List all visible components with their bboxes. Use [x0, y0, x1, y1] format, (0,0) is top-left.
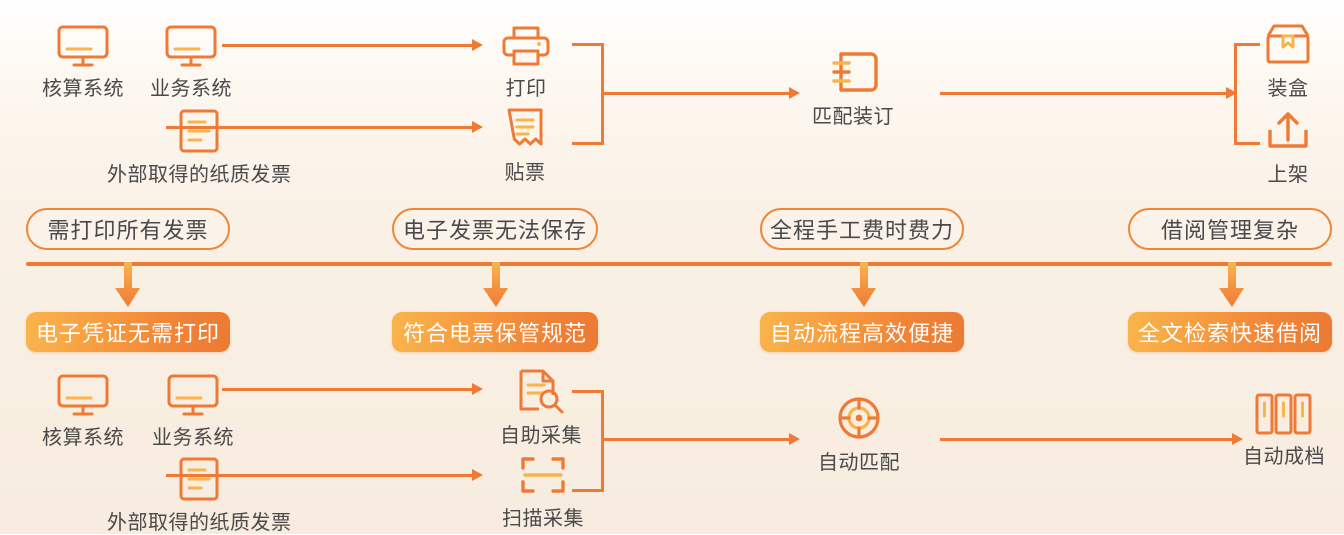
node-print: 打印 — [500, 24, 552, 101]
monitor-icon — [164, 24, 218, 68]
down-arrow-3 — [851, 262, 877, 310]
node-label: 核算系统 — [42, 421, 124, 450]
document-icon — [178, 108, 220, 154]
node-accounting-system-2: 核算系统 — [42, 373, 124, 450]
target-icon — [835, 394, 883, 442]
scan-icon — [519, 454, 567, 498]
connector-systems-to-print — [222, 44, 474, 47]
upload-shelf-icon — [1262, 110, 1314, 154]
node-accounting-system: 核算系统 — [42, 24, 124, 101]
problem-label: 全程手工费时费力 — [770, 213, 954, 245]
monitor-icon — [166, 373, 220, 417]
connector-match-to-outputs — [940, 92, 1228, 95]
connector-automatch-to-archive — [940, 438, 1234, 441]
node-label: 上架 — [1268, 158, 1309, 187]
binder-icon — [823, 50, 883, 96]
connector-systems-to-selfcollect — [222, 388, 474, 391]
connector-invoice-to-scan — [166, 474, 474, 477]
bracket-right-spine — [1234, 43, 1237, 145]
node-label: 外部取得的纸质发票 — [107, 506, 292, 535]
down-arrow-4 — [1219, 262, 1245, 310]
node-label: 核算系统 — [42, 72, 124, 101]
bracket-top-arm — [572, 43, 604, 46]
solution-badge-4: 全文检索快速借阅 — [1128, 312, 1332, 352]
connector-bracket2-to-automatch — [601, 438, 791, 441]
arrowhead-icon — [789, 87, 800, 99]
problem-label: 借阅管理复杂 — [1161, 213, 1299, 245]
connector-invoice-to-paste — [166, 126, 474, 129]
node-business-system: 业务系统 — [150, 24, 232, 101]
arrowhead-icon — [472, 469, 483, 481]
node-scan-collect: 扫描采集 — [502, 454, 584, 531]
arrowhead-icon — [789, 433, 800, 445]
node-box: 装盒 — [1262, 22, 1314, 101]
node-business-system-2: 业务系统 — [152, 373, 234, 450]
solution-badge-3: 自动流程高效便捷 — [760, 312, 964, 352]
node-paste: 贴票 — [502, 106, 548, 185]
solution-label: 电子凭证无需打印 — [36, 316, 220, 348]
section-divider — [26, 262, 1332, 266]
down-arrow-2 — [483, 262, 509, 310]
problem-label: 需打印所有发票 — [47, 213, 208, 245]
problem-label: 电子发票无法保存 — [403, 213, 587, 245]
arrowhead-icon — [472, 39, 483, 51]
problem-badge-3: 全程手工费时费力 — [760, 208, 964, 250]
document-icon — [178, 456, 220, 502]
node-label: 打印 — [506, 72, 547, 101]
arrowhead-icon — [472, 121, 483, 133]
arrowhead-icon — [1232, 433, 1243, 445]
solution-badge-1: 电子凭证无需打印 — [26, 312, 230, 352]
receipt-icon — [502, 106, 548, 152]
problem-badge-4: 借阅管理复杂 — [1128, 208, 1332, 250]
bracket-right-top-arm — [1234, 43, 1260, 46]
bracket2-bottom-arm — [572, 489, 604, 492]
node-label: 装盒 — [1268, 72, 1309, 101]
node-label: 扫描采集 — [502, 502, 584, 531]
problem-badge-1: 需打印所有发票 — [26, 208, 230, 250]
solution-label: 全文检索快速借阅 — [1138, 316, 1322, 348]
node-shelve: 上架 — [1262, 110, 1314, 187]
arrowhead-icon — [472, 383, 483, 395]
node-label: 匹配装订 — [812, 100, 894, 129]
solution-label: 自动流程高效便捷 — [770, 316, 954, 348]
node-label: 外部取得的纸质发票 — [107, 158, 292, 187]
node-auto-match: 自动匹配 — [818, 394, 900, 475]
node-label: 自动成档 — [1243, 440, 1325, 469]
monitor-icon — [56, 24, 110, 68]
down-arrow-1 — [115, 262, 141, 310]
binders-icon — [1253, 392, 1315, 436]
printer-icon — [500, 24, 552, 68]
connector-bracket-to-match — [601, 92, 791, 95]
bracket-right-bottom-arm — [1234, 142, 1260, 145]
node-paper-invoice-2: 外部取得的纸质发票 — [107, 456, 292, 535]
node-label: 自动匹配 — [818, 446, 900, 475]
bracket2-spine — [601, 390, 604, 492]
node-label: 业务系统 — [152, 421, 234, 450]
node-label: 业务系统 — [150, 72, 232, 101]
node-paper-invoice: 外部取得的纸质发票 — [107, 108, 292, 187]
node-label: 自助采集 — [500, 419, 582, 448]
bracket-bottom-arm — [572, 142, 604, 145]
solution-label: 符合电票保管规范 — [403, 316, 587, 348]
node-self-collect: 自助采集 — [500, 367, 582, 448]
solution-badge-2: 符合电票保管规范 — [392, 312, 598, 352]
monitor-icon — [56, 373, 110, 417]
box-icon — [1262, 22, 1314, 68]
problem-badge-2: 电子发票无法保存 — [392, 208, 598, 250]
bracket2-top-arm — [572, 390, 604, 393]
document-search-icon — [515, 367, 567, 415]
node-match-bind: 匹配装订 — [812, 50, 894, 129]
diagram-canvas: 核算系统 业务系统 外部取得的纸质发票 — [0, 0, 1344, 534]
node-label: 贴票 — [505, 156, 546, 185]
node-auto-archive: 自动成档 — [1243, 392, 1325, 469]
